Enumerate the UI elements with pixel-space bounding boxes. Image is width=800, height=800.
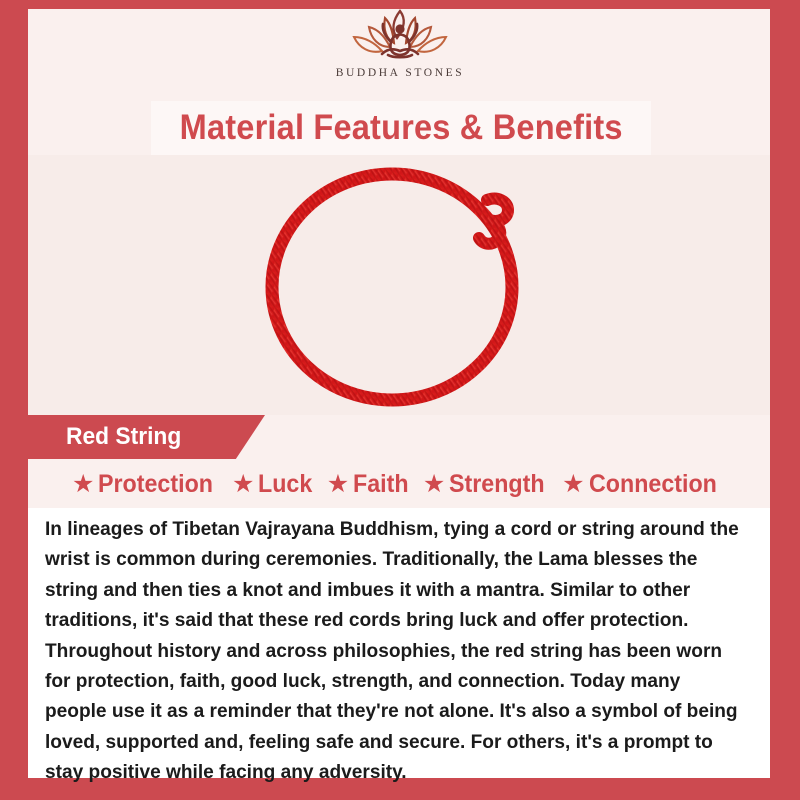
infographic-page: BUDDHA STONES Material Features & Benefi… <box>0 0 800 800</box>
benefit-label: Protection <box>98 470 213 499</box>
description-paragraph: In lineages of Tibetan Vajrayana Buddhis… <box>45 514 742 788</box>
lotus-meditation-figure-icon <box>325 4 475 66</box>
brand-logo: BUDDHA STONES <box>0 4 800 96</box>
benefit-item-luck: ★ Luck <box>232 470 317 499</box>
red-string-bracelet-image <box>249 160 549 410</box>
frame-band-right <box>770 0 800 800</box>
frame-band-left <box>0 0 28 800</box>
benefit-item-strength: ★ Strength <box>423 470 552 499</box>
product-image-area <box>28 155 770 415</box>
benefit-label: Connection <box>589 470 717 499</box>
star-icon: ★ <box>423 472 445 497</box>
page-title: Material Features & Benefits <box>180 108 623 148</box>
ribbon-label: Red String <box>66 423 181 451</box>
benefit-item-protection: ★ Protection <box>72 470 222 499</box>
title-banner: Material Features & Benefits <box>151 101 651 155</box>
benefits-row: ★ Protection ★ Luck ★ Faith ★ Strength ★… <box>28 462 770 507</box>
benefit-label: Faith <box>353 470 409 499</box>
brand-name: BUDDHA STONES <box>336 67 464 79</box>
star-icon: ★ <box>72 472 94 497</box>
benefit-item-connection: ★ Connection <box>562 470 726 499</box>
star-icon: ★ <box>562 472 584 497</box>
red-string-ribbon: Red String <box>0 415 265 459</box>
benefit-label: Luck <box>258 470 312 499</box>
benefit-item-faith: ★ Faith <box>327 470 413 499</box>
star-icon: ★ <box>327 472 349 497</box>
star-icon: ★ <box>232 472 254 497</box>
description-block: In lineages of Tibetan Vajrayana Buddhis… <box>28 508 770 778</box>
benefit-label: Strength <box>449 470 545 499</box>
